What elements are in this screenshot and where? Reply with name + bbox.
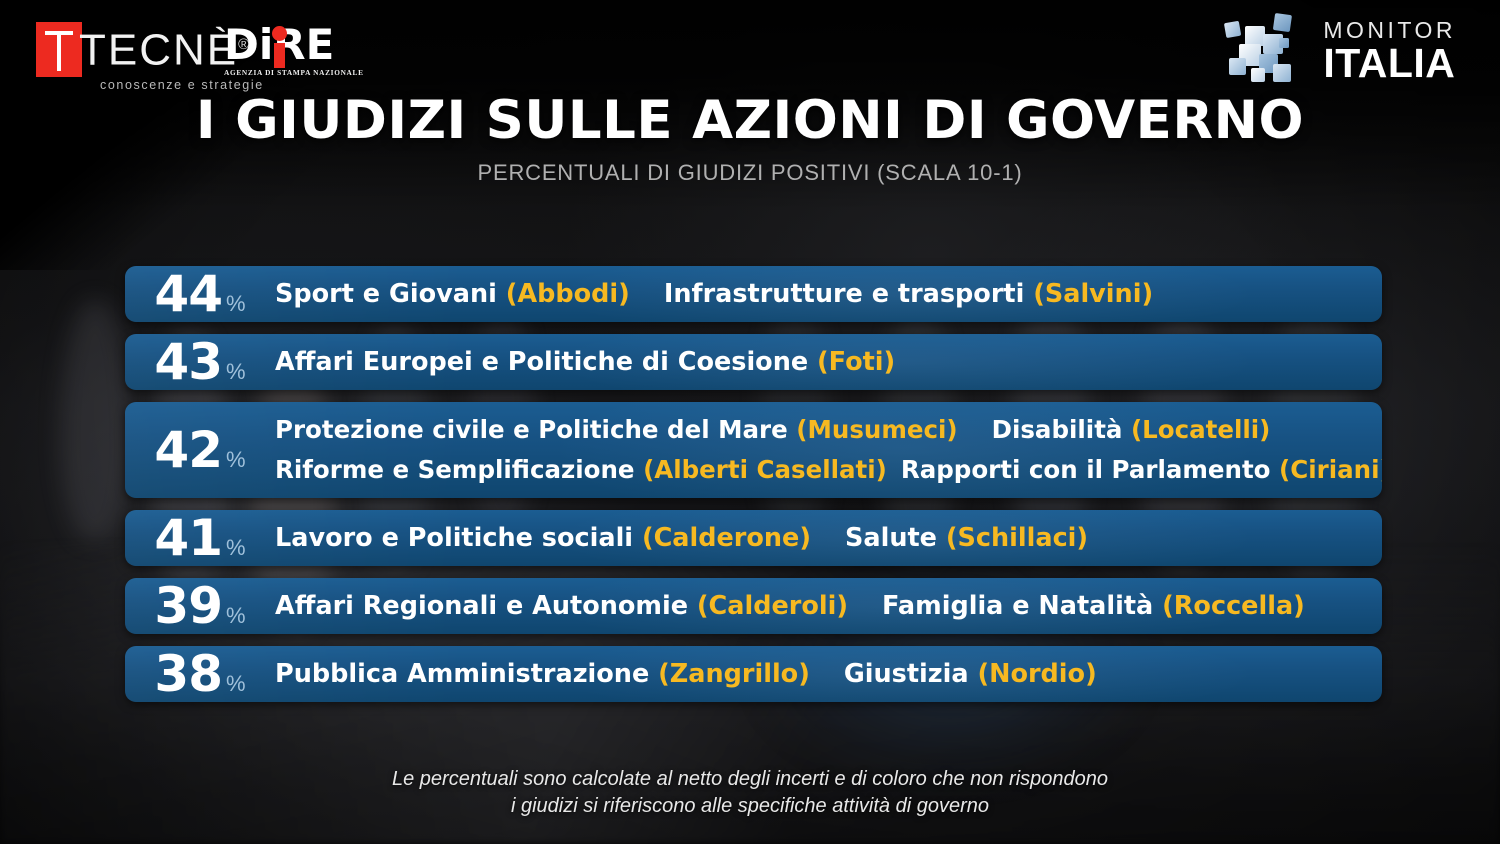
policy-area: Disabilità <box>992 415 1131 444</box>
monitor-text: MONITOR <box>1323 19 1456 42</box>
italia-text: ITALIA <box>1323 43 1456 84</box>
percent-sign: % <box>226 671 246 697</box>
policy-area: Riforme e Semplificazione <box>275 455 643 484</box>
minister-name: (Foti) <box>817 347 895 377</box>
footnote-line-1: Le percentuali sono calcolate al netto d… <box>0 766 1500 793</box>
minister-name: (Schillaci) <box>946 523 1088 553</box>
label-line: Lavoro e Politiche sociali (Calderone)Sa… <box>275 522 1368 555</box>
label-line: Riforme e Semplificazione (Alberti Casel… <box>275 450 1382 490</box>
footnote: Le percentuali sono calcolate al netto d… <box>0 766 1500 820</box>
percentage-number: 38 <box>154 649 222 699</box>
percent-sign: % <box>226 535 246 561</box>
label-line: Sport e Giovani (Abbodi)Infrastrutture e… <box>275 278 1368 311</box>
label-line: Affari Regionali e Autonomie (Calderoli)… <box>275 590 1368 623</box>
label-line: Protezione civile e Politiche del Mare (… <box>275 410 1382 450</box>
result-row: 38%Pubblica Amministrazione (Zangrillo)G… <box>125 646 1382 702</box>
percent-sign: % <box>226 447 246 473</box>
result-row: 41%Lavoro e Politiche sociali (Calderone… <box>125 510 1382 566</box>
minister-name: (Zangrillo) <box>658 659 810 689</box>
page-subtitle: PERCENTUALI DI GIUDIZI POSITIVI (SCALA 1… <box>0 160 1500 186</box>
policy-area: Sport e Giovani <box>275 279 506 309</box>
minister-name: (Musumeci) <box>796 415 957 444</box>
label-line: Pubblica Amministrazione (Zangrillo)Gius… <box>275 658 1368 691</box>
minister-name: (Abbodi) <box>506 279 630 309</box>
percent-sign: % <box>226 603 246 629</box>
result-row: 44%Sport e Giovani (Abbodi)Infrastruttur… <box>125 266 1382 322</box>
minister-name: (Salvini) <box>1033 279 1153 309</box>
tecne-name: TECNÈ <box>79 26 238 75</box>
percentage-value: 39% <box>125 581 275 631</box>
result-row: 42%Protezione civile e Politiche del Mar… <box>125 402 1382 498</box>
percent-sign: % <box>226 359 246 385</box>
tecne-t-mark-icon <box>36 22 82 77</box>
minister-name: (Nordio) <box>977 659 1096 689</box>
percentage-value: 42% <box>125 425 275 475</box>
policy-area: Pubblica Amministrazione <box>275 659 658 689</box>
dire-tagline: AGENZIA DI STAMPA NAZIONALE <box>224 68 332 77</box>
footnote-line-2: i giudizi si riferiscono alle specifiche… <box>0 793 1500 820</box>
row-labels: Pubblica Amministrazione (Zangrillo)Gius… <box>275 658 1382 691</box>
percentage-number: 41 <box>154 513 222 563</box>
policy-area: Lavoro e Politiche sociali <box>275 523 642 553</box>
row-labels: Sport e Giovani (Abbodi)Infrastrutture e… <box>275 278 1382 311</box>
title-block: I GIUDIZI SULLE AZIONI DI GOVERNO PERCEN… <box>0 90 1500 186</box>
page-title: I GIUDIZI SULLE AZIONI DI GOVERNO <box>0 90 1500 151</box>
percentage-number: 43 <box>154 337 222 387</box>
row-labels: Affari Europei e Politiche di Coesione (… <box>275 346 1382 379</box>
row-labels: Lavoro e Politiche sociali (Calderone)Sa… <box>275 522 1382 555</box>
policy-area: Rapporti con il Parlamento <box>901 455 1279 484</box>
row-labels: Affari Regionali e Autonomie (Calderoli)… <box>275 590 1382 623</box>
minister-name: (Alberti Casellati) <box>643 455 887 484</box>
result-row: 39%Affari Regionali e Autonomie (Caldero… <box>125 578 1382 634</box>
minister-name: (Calderone) <box>642 523 811 553</box>
policy-area: Infrastrutture e trasporti <box>664 279 1033 309</box>
percentage-value: 41% <box>125 513 275 563</box>
percentage-number: 42 <box>154 425 222 475</box>
dire-dot-icon <box>272 26 287 41</box>
percentage-value: 38% <box>125 649 275 699</box>
policy-area: Famiglia e Natalità <box>882 591 1162 621</box>
policy-area: Affari Regionali e Autonomie <box>275 591 697 621</box>
minister-name: (Locatelli) <box>1131 415 1270 444</box>
dire-logo: DiRE AGENZIA DI STAMPA NAZIONALE <box>224 24 332 77</box>
policy-area: Salute <box>845 523 946 553</box>
percentage-value: 44% <box>125 269 275 319</box>
percent-sign: % <box>226 291 246 317</box>
minister-name: (Calderoli) <box>697 591 848 621</box>
monitor-italia-wordmark: MONITOR ITALIA <box>1323 15 1456 84</box>
dire-i-stem-icon <box>274 43 285 68</box>
policy-area: Affari Europei e Politiche di Coesione <box>275 347 817 377</box>
label-line: Affari Europei e Politiche di Coesione (… <box>275 346 1368 379</box>
minister-name: (Ciriani) <box>1279 455 1382 484</box>
header-bar: TECNÈ® conoscenze e strategie DiRE AGENZ… <box>0 0 1500 100</box>
percentage-number: 39 <box>154 581 222 631</box>
percentage-value: 43% <box>125 337 275 387</box>
policy-area: Protezione civile e Politiche del Mare <box>275 415 796 444</box>
policy-area: Giustizia <box>844 659 978 689</box>
tecne-logo: TECNÈ® conoscenze e strategie <box>36 22 251 80</box>
percentage-number: 44 <box>154 269 222 319</box>
row-labels: Protezione civile e Politiche del Mare (… <box>275 410 1382 490</box>
result-row: 43%Affari Europei e Politiche di Coesion… <box>125 334 1382 390</box>
minister-name: (Roccella) <box>1162 591 1305 621</box>
cube-cluster-icon <box>1221 10 1311 88</box>
monitor-italia-logo: MONITOR ITALIA <box>1221 10 1456 88</box>
results-list: 44%Sport e Giovani (Abbodi)Infrastruttur… <box>125 266 1382 714</box>
